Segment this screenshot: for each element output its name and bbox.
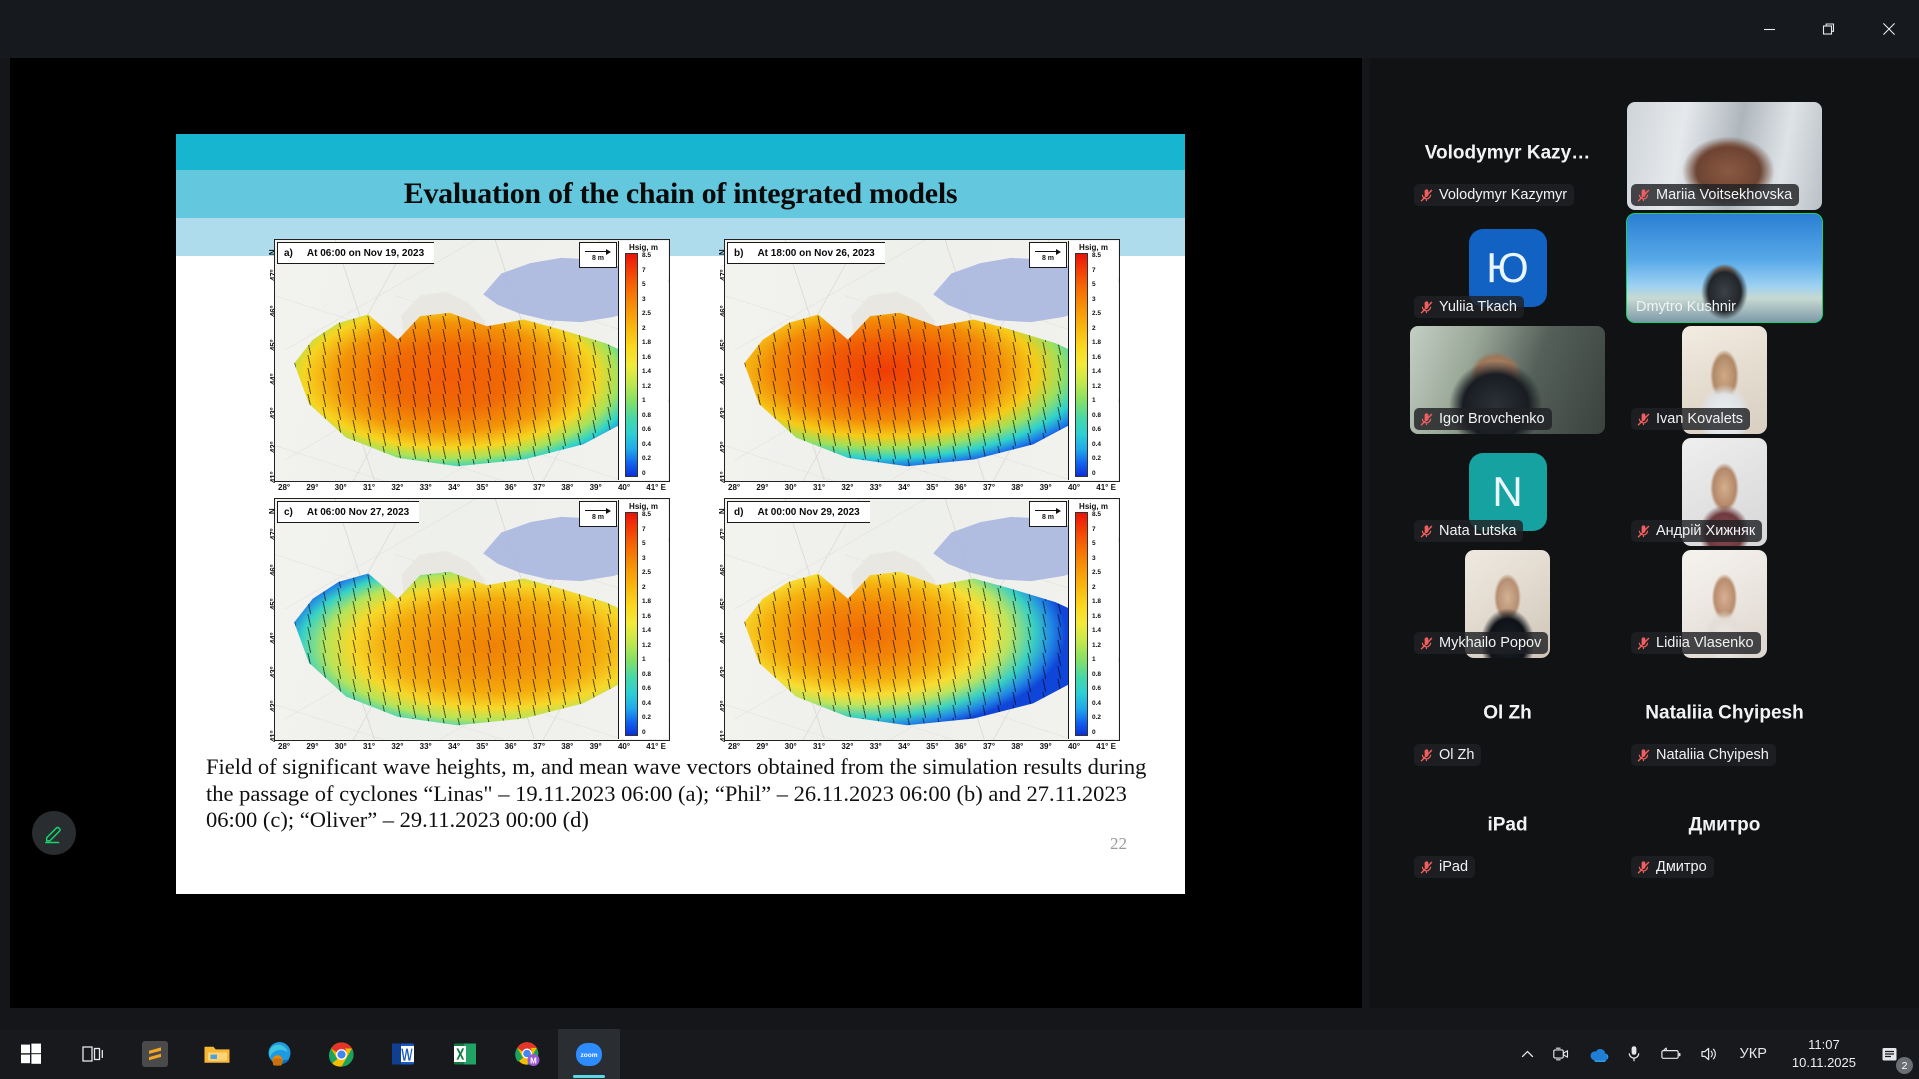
vector-arrow-icon bbox=[585, 248, 611, 255]
participant-namebar: Dmytro Kushnir bbox=[1631, 296, 1743, 318]
camera-indicator[interactable] bbox=[1543, 1029, 1579, 1079]
task-view-button[interactable] bbox=[62, 1029, 124, 1079]
mic-muted-icon bbox=[1636, 188, 1651, 203]
mic-muted-icon bbox=[1419, 188, 1434, 203]
participant-row: Ю Yuliia Tkach Dmytro Kushnir bbox=[1410, 214, 1879, 322]
chrome-profile-icon: M bbox=[514, 1041, 541, 1068]
chrome-icon bbox=[328, 1041, 355, 1068]
participant-tile[interactable]: Mariia Voitsekhovska bbox=[1627, 102, 1822, 210]
volume-button[interactable] bbox=[1691, 1029, 1729, 1079]
annotate-button[interactable] bbox=[32, 811, 76, 855]
avatar-initial: Ю bbox=[1486, 244, 1528, 292]
figure-row-top: N 47° 46° 45° 44° 43° 42° 41° bbox=[248, 239, 1120, 482]
microsoft-edge-button[interactable] bbox=[248, 1029, 310, 1079]
panel-label-b: b) At 18:00 on Nov 26, 2023 bbox=[727, 242, 885, 264]
participant-namebar: Андрій Хижняк bbox=[1631, 520, 1762, 542]
mic-muted-icon bbox=[1419, 636, 1434, 651]
participant-namebar: Ol Zh bbox=[1414, 744, 1481, 766]
participant-namebar: Lidiia Vlasenko bbox=[1631, 632, 1761, 654]
colorbar-d: Hsig, m 8.5 7 5 3 2.5 2 bbox=[1068, 500, 1118, 739]
participant-name: Дмитро bbox=[1656, 859, 1707, 875]
sublime-text-button[interactable] bbox=[124, 1029, 186, 1079]
sublime-icon bbox=[142, 1041, 168, 1067]
x-axis-d: 28° 29° 30° 31° 32° 33° 34° 35° 36° 37° … bbox=[724, 741, 1120, 755]
start-button[interactable] bbox=[0, 1029, 62, 1079]
participant-row: Mykhailo Popov Lidiia Vlasenko bbox=[1410, 550, 1879, 658]
map-body-c: c) At 06:00 Nov 27, 2023 8 m Hsig, m bbox=[274, 498, 670, 741]
chrome-profile-button[interactable]: M bbox=[496, 1029, 558, 1079]
participant-name: Yuliia Tkach bbox=[1439, 299, 1517, 315]
mic-muted-icon bbox=[1636, 860, 1651, 875]
participant-tile[interactable]: N Nata Lutska bbox=[1410, 438, 1605, 546]
camera-icon bbox=[1552, 1046, 1570, 1062]
mic-muted-icon bbox=[1636, 636, 1651, 651]
participant-tile[interactable]: Ol Zh Ol Zh bbox=[1410, 662, 1605, 770]
participant-display-name: Nataliia Chyipesh bbox=[1627, 702, 1822, 724]
clock-time: 11:07 bbox=[1808, 1036, 1840, 1054]
colorbar-gradient bbox=[625, 253, 638, 477]
colorbar-a: Hsig, m 8.5 7 5 3 2.5 2 bbox=[618, 241, 668, 480]
panel-label-c: c) At 06:00 Nov 27, 2023 bbox=[277, 501, 419, 523]
slide-caption: Field of significant wave heights, m, an… bbox=[206, 754, 1156, 834]
chevron-up-icon bbox=[1521, 1048, 1534, 1061]
mic-muted-icon bbox=[1419, 412, 1434, 427]
panel-label-a: a) At 06:00 on Nov 19, 2023 bbox=[277, 242, 434, 264]
participant-tile[interactable]: Ivan Kovalets bbox=[1627, 326, 1822, 434]
participant-tile[interactable]: iPad iPad bbox=[1410, 774, 1605, 882]
folder-icon bbox=[203, 1042, 231, 1066]
zoom-button[interactable]: zoom bbox=[558, 1029, 620, 1079]
participant-name: Volodymyr Kazymyr bbox=[1439, 187, 1567, 203]
windows-taskbar: M zoom bbox=[0, 1029, 1919, 1079]
mic-muted-icon bbox=[1636, 748, 1651, 763]
vector-arrow-icon bbox=[585, 507, 611, 514]
mic-muted-icon bbox=[1636, 524, 1651, 539]
avatar-initial: N bbox=[1492, 468, 1522, 516]
active-app-indicator bbox=[573, 1075, 605, 1078]
participant-name: Mykhailo Popov bbox=[1439, 635, 1541, 651]
participant-namebar: Igor Brovchenko bbox=[1414, 408, 1552, 430]
participant-namebar: Mykhailo Popov bbox=[1414, 632, 1548, 654]
participant-namebar: Mariia Voitsekhovska bbox=[1631, 184, 1799, 206]
participant-namebar: Volodymyr Kazymyr bbox=[1414, 184, 1574, 206]
y-axis-b: N 47° 46° 45° 44° 43° 42° 41° bbox=[698, 239, 724, 482]
participant-row: Igor Brovchenko Ivan Kovalets bbox=[1410, 326, 1879, 434]
edge-icon bbox=[266, 1041, 293, 1068]
mic-muted-icon bbox=[1419, 524, 1434, 539]
minimize-button[interactable] bbox=[1739, 0, 1799, 58]
zoom-window-titlebar bbox=[0, 0, 1919, 58]
participant-row: Ol Zh Ol Zh Nataliia Chyipesh bbox=[1410, 662, 1879, 770]
vector-arrow-icon bbox=[1035, 507, 1061, 514]
participants-panel: Volodymyr Kazy… Volodymyr Kazymyr bbox=[1370, 58, 1919, 1008]
figure-row-bottom: N 47° 46° 45° 44° 43° 42° 41° bbox=[248, 498, 1120, 741]
participant-tile[interactable]: Андрій Хижняк bbox=[1627, 438, 1822, 546]
participant-display-name: Volodymyr Kazy… bbox=[1410, 142, 1605, 164]
language-indicator[interactable]: УКР bbox=[1729, 1029, 1778, 1079]
participant-tile-active-speaker[interactable]: Dmytro Kushnir bbox=[1627, 214, 1822, 322]
y-axis-d: N 47° 46° 45° 44° 43° 42° 41° bbox=[698, 498, 724, 741]
panel-label-d: d) At 00:00 Nov 29, 2023 bbox=[727, 501, 870, 523]
colorbar-gradient bbox=[1075, 512, 1088, 736]
slide-title: Evaluation of the chain of integrated mo… bbox=[176, 170, 1185, 218]
participant-row: Volodymyr Kazy… Volodymyr Kazymyr bbox=[1410, 102, 1879, 210]
show-hidden-icons-button[interactable] bbox=[1512, 1029, 1543, 1079]
vector-arrow-icon bbox=[1035, 248, 1061, 255]
pencil-icon bbox=[43, 822, 65, 844]
onedrive-icon-button[interactable] bbox=[1579, 1029, 1618, 1079]
participant-display-name: Ol Zh bbox=[1410, 702, 1605, 724]
excel-icon bbox=[453, 1041, 478, 1067]
colorbar-ticks: 8.5 7 5 3 2.5 2 1.8 1.6 1.4 bbox=[1090, 512, 1116, 736]
participant-name: Mariia Voitsekhovska bbox=[1656, 187, 1792, 203]
x-axis-c: 28° 29° 30° 31° 32° 33° 34° 35° 36° 37° … bbox=[274, 741, 670, 755]
vector-scale-key-c: 8 m bbox=[579, 501, 617, 527]
shared-screen-stage: Evaluation of the chain of integrated mo… bbox=[10, 58, 1362, 1008]
mic-muted-icon bbox=[1419, 748, 1434, 763]
svg-text:zoom: zoom bbox=[581, 1052, 598, 1059]
x-axis-b: 28° 29° 30° 31° 32° 33° 34° 35° 36° 37° … bbox=[724, 482, 1120, 496]
system-tray: УКР 11:07 10.11.2025 2 bbox=[1512, 1029, 1919, 1079]
zoom-icon: zoom bbox=[574, 1039, 604, 1069]
colorbar-gradient bbox=[625, 512, 638, 736]
colorbar-c: Hsig, m 8.5 7 5 3 2.5 2 bbox=[618, 500, 668, 739]
map-panel-d: N 47° 46° 45° 44° 43° 42° 41° bbox=[698, 498, 1120, 741]
participant-name: Nata Lutska bbox=[1439, 523, 1516, 539]
participant-name: Igor Brovchenko bbox=[1439, 411, 1545, 427]
map-panel-a: N 47° 46° 45° 44° 43° 42° 41° bbox=[248, 239, 670, 482]
microphone-indicator[interactable] bbox=[1618, 1029, 1650, 1079]
participant-name: iPad bbox=[1439, 859, 1468, 875]
participant-namebar: Nata Lutska bbox=[1414, 520, 1523, 542]
participant-name: Lidiia Vlasenko bbox=[1656, 635, 1754, 651]
battery-icon bbox=[1659, 1047, 1682, 1061]
map-panel-b: N 47° 46° 45° 44° 43° 42° 41° bbox=[698, 239, 1120, 482]
map-body-a: a) At 06:00 on Nov 19, 2023 8 m Hsig, m bbox=[274, 239, 670, 482]
onedrive-icon bbox=[1588, 1047, 1609, 1062]
presentation-slide: Evaluation of the chain of integrated mo… bbox=[176, 134, 1185, 894]
participant-row: iPad iPad Дмитро bbox=[1410, 774, 1879, 882]
participant-name: Ivan Kovalets bbox=[1656, 411, 1743, 427]
participant-tile[interactable]: Ю Yuliia Tkach bbox=[1410, 214, 1605, 322]
participant-namebar: Nataliia Chyipesh bbox=[1631, 744, 1776, 766]
task-view-icon bbox=[81, 1044, 105, 1064]
participant-tile[interactable]: Nataliia Chyipesh Nataliia Chyipesh bbox=[1627, 662, 1822, 770]
x-axis-a: 28° 29° 30° 31° 32° 33° 34° 35° 36° 37° … bbox=[274, 482, 670, 496]
participant-display-name: iPad bbox=[1410, 814, 1605, 836]
participant-namebar: Yuliia Tkach bbox=[1414, 296, 1524, 318]
taskbar-apps: M zoom bbox=[0, 1029, 620, 1079]
vector-scale-key-d: 8 m bbox=[1029, 501, 1067, 527]
clock-date: 10.11.2025 bbox=[1792, 1054, 1856, 1072]
colorbar-b: Hsig, m 8.5 7 5 3 2.5 2 bbox=[1068, 241, 1118, 480]
map-body-d: d) At 00:00 Nov 29, 2023 8 m Hsig, m bbox=[724, 498, 1120, 741]
colorbar-ticks: 8.5 7 5 3 2.5 2 1.8 1.6 1.4 bbox=[640, 253, 666, 477]
notification-center-button[interactable]: 2 bbox=[1870, 1029, 1915, 1079]
participant-tile[interactable]: Mykhailo Popov bbox=[1410, 550, 1605, 658]
mic-muted-icon bbox=[1636, 412, 1651, 427]
participant-name: Андрій Хижняк bbox=[1656, 523, 1755, 539]
mic-muted-icon bbox=[1419, 300, 1434, 315]
word-icon bbox=[391, 1041, 416, 1067]
mic-muted-icon bbox=[1419, 860, 1434, 875]
microsoft-excel-button[interactable] bbox=[434, 1029, 496, 1079]
y-axis-a: N 47° 46° 45° 44° 43° 42° 41° bbox=[248, 239, 274, 482]
participant-display-name: Дмитро bbox=[1627, 814, 1822, 836]
participant-row: N Nata Lutska bbox=[1410, 438, 1879, 546]
participant-namebar: Ivan Kovalets bbox=[1631, 408, 1750, 430]
microphone-icon bbox=[1627, 1045, 1641, 1063]
vector-scale-key-b: 8 m bbox=[1029, 242, 1067, 268]
slide-band-top bbox=[176, 134, 1185, 170]
participant-name: Dmytro Kushnir bbox=[1636, 299, 1736, 315]
svg-text:M: M bbox=[530, 1056, 537, 1065]
participant-tile[interactable]: Дмитро Дмитро bbox=[1627, 774, 1822, 882]
desktop-root: Evaluation of the chain of integrated mo… bbox=[0, 0, 1919, 1079]
google-chrome-button[interactable] bbox=[310, 1029, 372, 1079]
participant-tile[interactable]: Lidiia Vlasenko bbox=[1627, 550, 1822, 658]
participant-name: Nataliia Chyipesh bbox=[1656, 747, 1769, 763]
notification-badge: 2 bbox=[1896, 1057, 1913, 1074]
battery-indicator[interactable] bbox=[1650, 1029, 1691, 1079]
map-body-b: b) At 18:00 on Nov 26, 2023 8 m Hsig, m bbox=[724, 239, 1120, 482]
clock[interactable]: 11:07 10.11.2025 bbox=[1778, 1029, 1870, 1079]
close-button[interactable] bbox=[1859, 0, 1919, 58]
windows-logo-icon bbox=[20, 1043, 42, 1065]
microsoft-word-button[interactable] bbox=[372, 1029, 434, 1079]
participant-tile[interactable]: Volodymyr Kazy… Volodymyr Kazymyr bbox=[1410, 102, 1605, 210]
colorbar-gradient bbox=[1075, 253, 1088, 477]
window-controls bbox=[1739, 0, 1919, 58]
y-axis-c: N 47° 46° 45° 44° 43° 42° 41° bbox=[248, 498, 274, 741]
participant-namebar: iPad bbox=[1414, 856, 1475, 878]
participant-tile[interactable]: Igor Brovchenko bbox=[1410, 326, 1605, 434]
file-explorer-button[interactable] bbox=[186, 1029, 248, 1079]
colorbar-ticks: 8.5 7 5 3 2.5 2 1.8 1.6 1.4 bbox=[640, 512, 666, 736]
restore-button[interactable] bbox=[1799, 0, 1859, 58]
slide-page-number: 22 bbox=[1110, 834, 1127, 854]
participant-namebar: Дмитро bbox=[1631, 856, 1714, 878]
vector-scale-key-a: 8 m bbox=[579, 242, 617, 268]
map-panel-c: N 47° 46° 45° 44° 43° 42° 41° bbox=[248, 498, 670, 741]
participant-name: Ol Zh bbox=[1439, 747, 1474, 763]
colorbar-ticks: 8.5 7 5 3 2.5 2 1.8 1.6 1.4 bbox=[1090, 253, 1116, 477]
speaker-icon bbox=[1700, 1046, 1720, 1062]
wave-height-figure: N 47° 46° 45° 44° 43° 42° 41° bbox=[248, 239, 1120, 739]
